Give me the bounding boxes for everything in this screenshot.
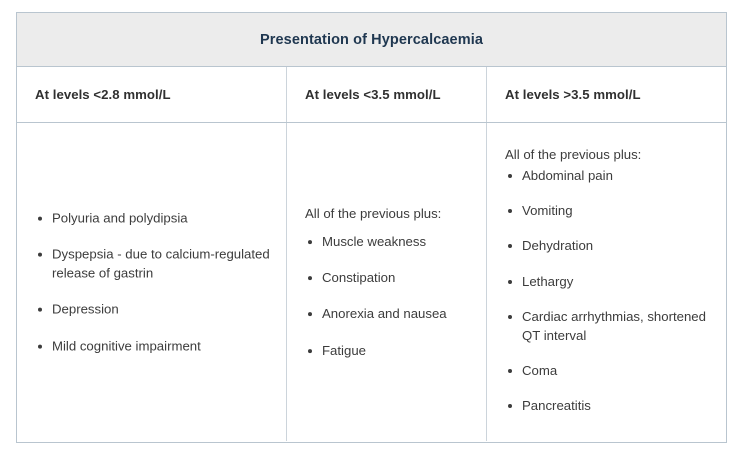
list-item: Dyspepsia - due to calcium-regulated rel… [35, 245, 274, 283]
column-header-label-2: At levels <3.5 mmol/L [305, 87, 441, 102]
list-item: Abdominal pain [505, 166, 714, 185]
table-title-row: Presentation of Hypercalcaemia [17, 13, 726, 67]
symptom-cell-content-1: Polyuria and polydipsia Dyspepsia - due … [35, 209, 274, 356]
symptom-cell-level-under-2-8: Polyuria and polydipsia Dyspepsia - due … [17, 123, 286, 441]
list-item: Polyuria and polydipsia [35, 209, 274, 228]
symptom-cell-level-under-3-5: All of the previous plus: Muscle weaknes… [286, 123, 486, 441]
column-header-cell-2: At levels <3.5 mmol/L [286, 67, 486, 122]
list-item: Coma [505, 361, 714, 380]
symptom-lead-text-2: All of the previous plus: [305, 204, 474, 223]
symptom-cell-level-over-3-5: All of the previous plus: Abdominal pain… [486, 123, 726, 441]
list-item: Vomiting [505, 201, 714, 220]
symptom-lead-text-3: All of the previous plus: [505, 145, 714, 164]
symptom-list-1: Polyuria and polydipsia Dyspepsia - due … [35, 209, 274, 356]
column-header-cell-3: At levels >3.5 mmol/L [486, 67, 726, 122]
page-root: Presentation of Hypercalcaemia At levels… [0, 0, 741, 459]
list-item: Mild cognitive impairment [35, 336, 274, 355]
list-item: Dehydration [505, 236, 714, 255]
table-header-row: At levels <2.8 mmol/L At levels <3.5 mmo… [17, 67, 726, 123]
list-item: Lethargy [505, 272, 714, 291]
column-header-label-1: At levels <2.8 mmol/L [35, 87, 171, 102]
list-item: Fatigue [305, 341, 474, 360]
symptom-list-3: Abdominal pain Vomiting Dehydration Leth… [505, 166, 714, 415]
list-item: Cardiac arrhythmias, shortened QT interv… [505, 307, 714, 345]
list-item: Pancreatitis [505, 396, 714, 415]
list-item: Constipation [305, 268, 474, 287]
list-item: Anorexia and nausea [305, 305, 474, 324]
column-header-label-3: At levels >3.5 mmol/L [505, 87, 641, 102]
symptom-cell-content-3: All of the previous plus: Abdominal pain… [505, 145, 714, 431]
column-header-cell-1: At levels <2.8 mmol/L [17, 67, 286, 122]
symptom-cell-content-2: All of the previous plus: Muscle weaknes… [305, 204, 474, 360]
symptom-list-2: Muscle weakness Constipation Anorexia an… [305, 232, 474, 360]
list-item: Depression [35, 300, 274, 319]
table-title: Presentation of Hypercalcaemia [260, 32, 483, 48]
table-body-row: Polyuria and polydipsia Dyspepsia - due … [17, 123, 726, 441]
hypercalcaemia-presentation-table: Presentation of Hypercalcaemia At levels… [16, 12, 727, 443]
list-item: Muscle weakness [305, 232, 474, 251]
